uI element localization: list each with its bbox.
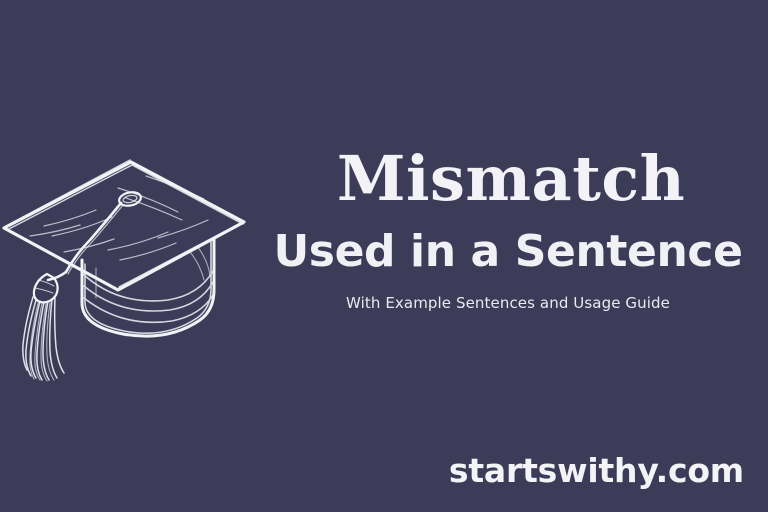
tagline: With Example Sentences and Usage Guide [258,274,758,311]
graduation-cap-icon [0,140,250,370]
word-card: Mismatch Used in a Sentence With Example… [0,0,768,512]
headline: Used in a Sentence [258,210,758,274]
page-title: Mismatch [258,148,758,210]
brand-site-name: startswithy.com [449,451,744,490]
hero-text-block: Mismatch Used in a Sentence With Example… [258,148,758,311]
